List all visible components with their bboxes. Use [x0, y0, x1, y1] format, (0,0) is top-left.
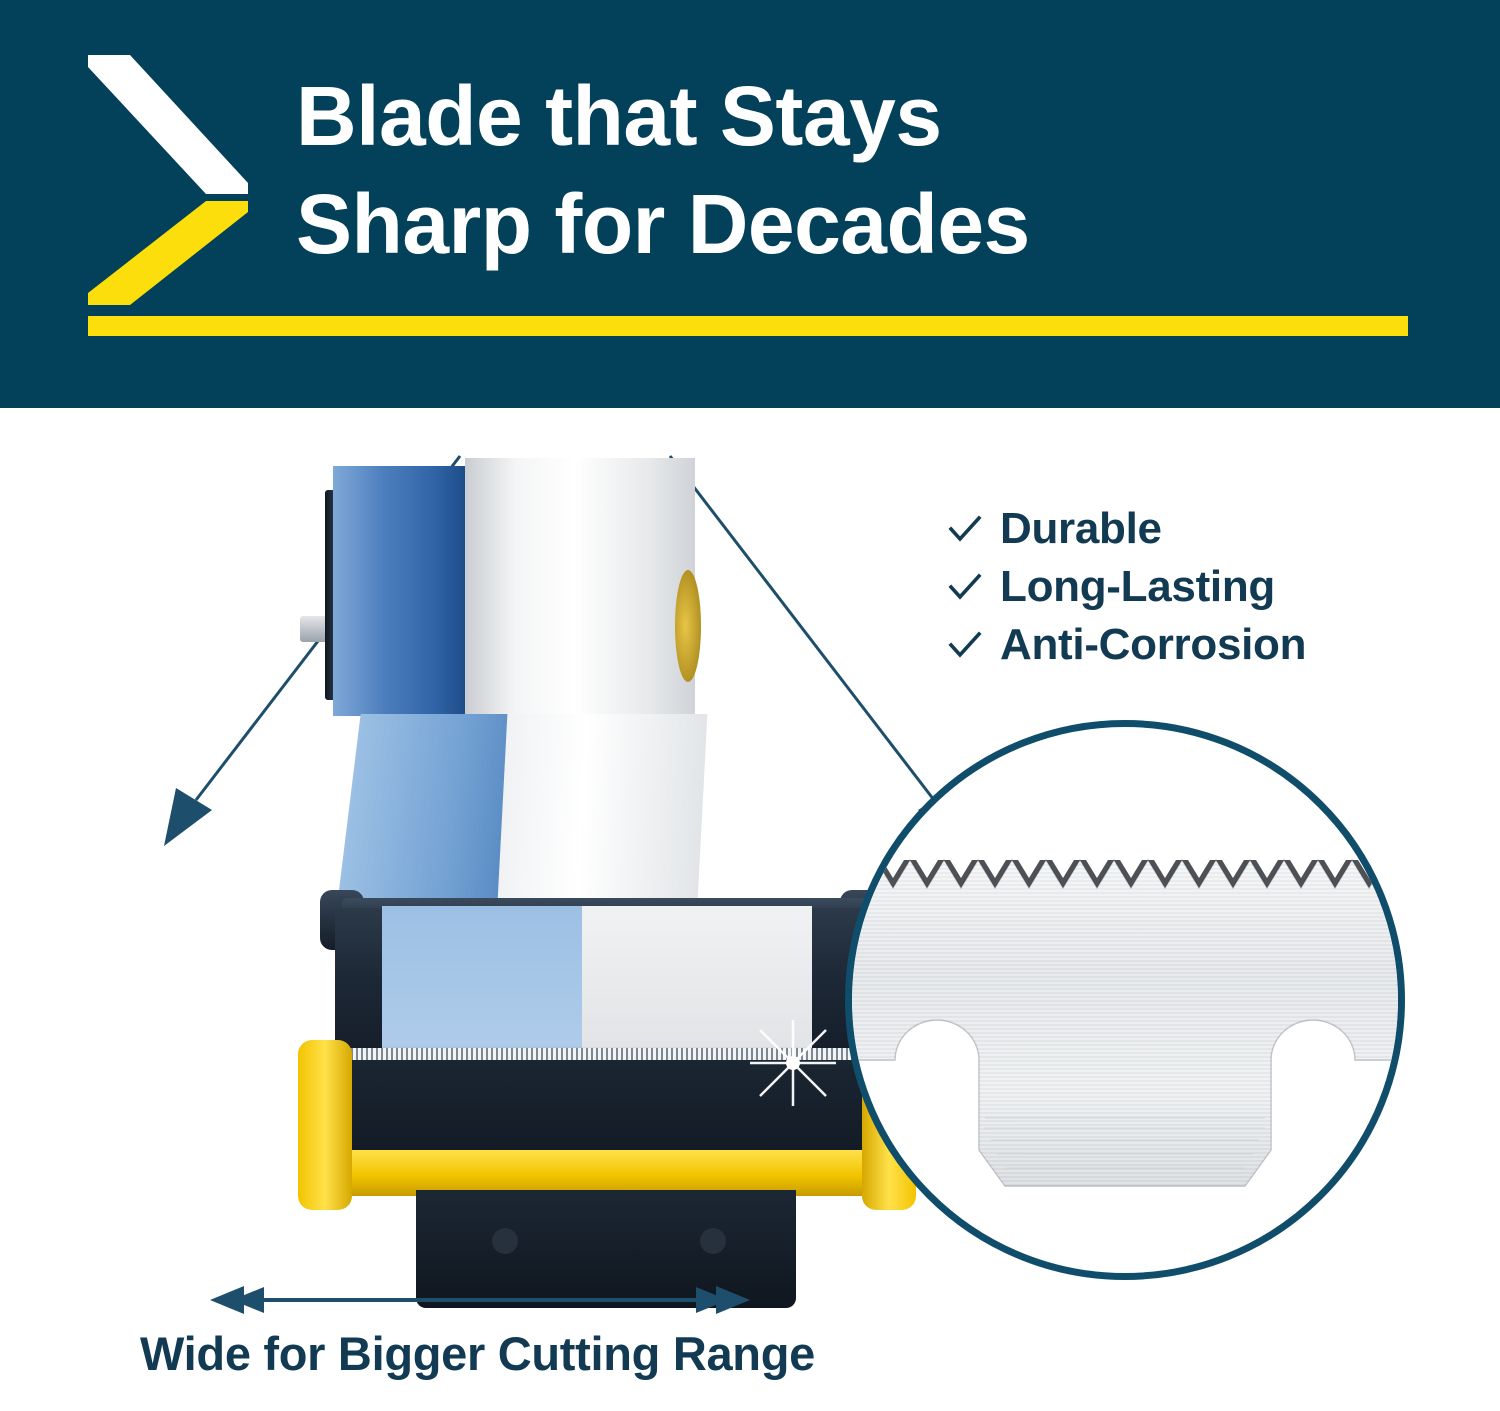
blue-tape-roll: [333, 466, 465, 716]
feature-label-durable: Durable: [1000, 504, 1162, 554]
title-line-1: Blade that Stays: [296, 62, 1416, 170]
check-icon: [948, 570, 982, 604]
sparkle-icon: [750, 1020, 836, 1106]
header-accent-rule: [88, 316, 1408, 336]
serrated-steel-blade: [845, 720, 1405, 1280]
blade-closeup-circle: [845, 720, 1405, 1280]
feature-label-anti-corrosion: Anti-Corrosion: [1000, 620, 1306, 670]
chevron-upper-white: [88, 55, 248, 194]
check-icon: [948, 512, 982, 546]
feature-item-anti-corrosion: Anti-Corrosion: [948, 616, 1448, 674]
product-caption: Wide for Bigger Cutting Range: [140, 1326, 960, 1381]
feature-item-long-lasting: Long-Lasting: [948, 558, 1448, 616]
base-screw-1: [492, 1228, 518, 1254]
clear-tape-roll: [465, 458, 695, 720]
clear-roll-core: [675, 570, 701, 682]
blue-tape-over-deck: [382, 906, 582, 1054]
check-icon: [948, 628, 982, 662]
blade-brushed-texture: [845, 860, 1405, 1186]
yellow-handle-left: [298, 1040, 352, 1210]
blue-tape-web: [335, 714, 520, 920]
clear-tape-web: [497, 714, 708, 920]
feature-list: Durable Long-Lasting Anti-Corrosion: [948, 500, 1448, 674]
main-content: Wide for Bigger Cutting Range Durable Lo…: [0, 408, 1500, 1411]
product-photo: [120, 428, 840, 1298]
feature-label-long-lasting: Long-Lasting: [1000, 562, 1275, 612]
double-chevron-logo: [88, 55, 248, 305]
title-line-2: Sharp for Decades: [296, 170, 1416, 278]
header-banner: Blade that Stays Sharp for Decades: [0, 0, 1500, 408]
base-screw-2: [700, 1228, 726, 1254]
double-headed-horizontal-arrow: [210, 1278, 750, 1322]
feature-item-durable: Durable: [948, 500, 1448, 558]
chevron-lower-yellow: [88, 201, 248, 305]
page-title: Blade that Stays Sharp for Decades: [296, 62, 1416, 278]
